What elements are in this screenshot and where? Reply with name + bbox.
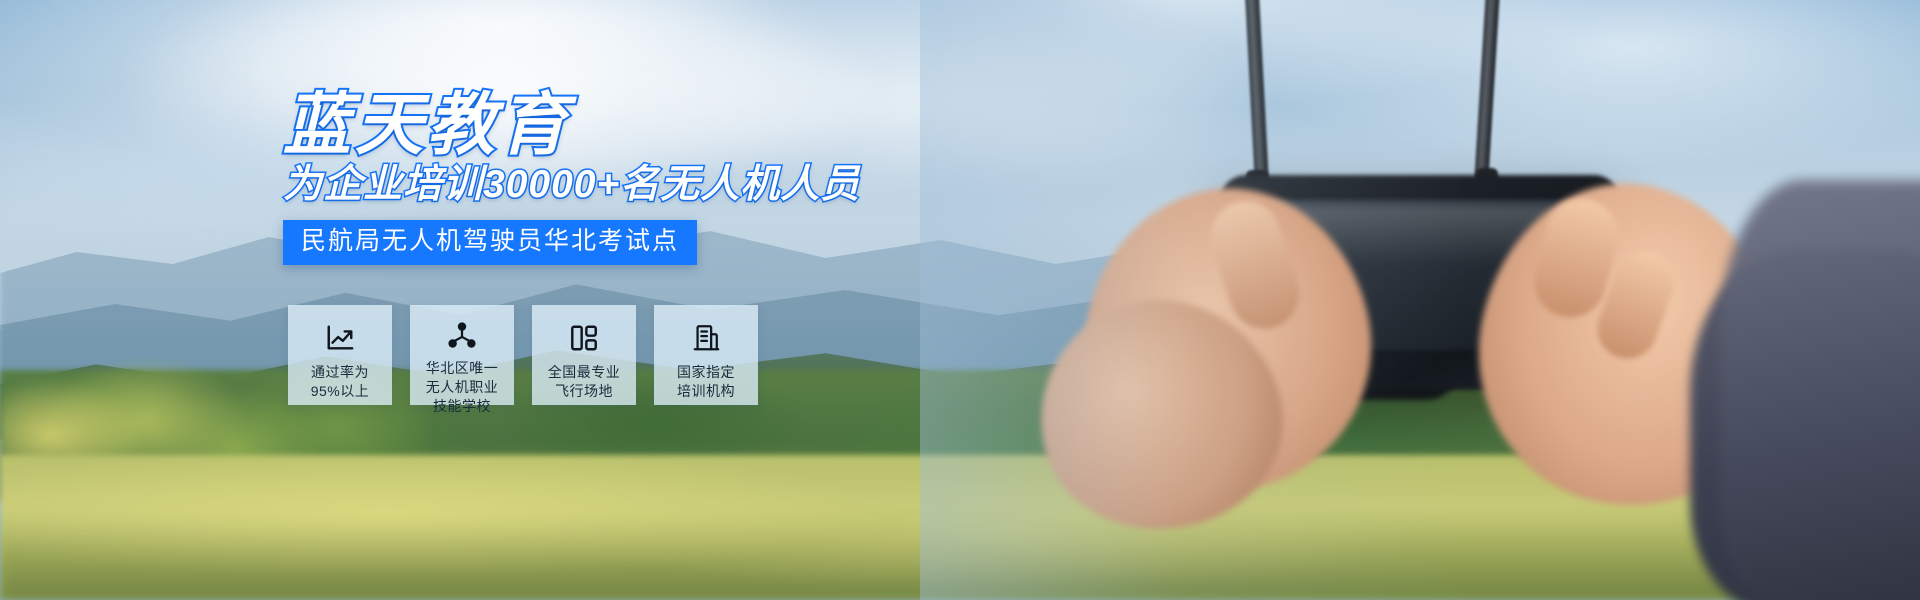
feature-card-text: 通过率为 95%以上 <box>311 363 370 401</box>
exam-site-badge: 民航局无人机驾驶员华北考试点 <box>283 220 697 265</box>
feature-card-vocational-school[interactable]: 华北区唯一 无人机职业 技能学校 <box>410 305 514 405</box>
feature-card-text: 全国最专业 飞行场地 <box>548 363 621 401</box>
chart-trend-up-icon <box>325 321 355 355</box>
feature-card-flight-field[interactable]: 全国最专业 飞行场地 <box>532 305 636 405</box>
banner-subtitle: 为企业培训30000+名无人机人员 <box>283 162 860 208</box>
layout-grid-icon <box>569 321 599 355</box>
building-icon <box>691 321 721 355</box>
feature-card-text: 国家指定 培训机构 <box>677 363 735 401</box>
network-nodes-icon <box>447 321 477 351</box>
banner-title: 蓝天教育 <box>283 88 571 162</box>
hero-banner: 蓝天教育 为企业培训30000+名无人机人员 民航局无人机驾驶员华北考试点 通过… <box>0 0 1920 600</box>
feature-card-text: 华北区唯一 无人机职业 技能学校 <box>426 359 499 416</box>
feature-card-state-designated[interactable]: 国家指定 培训机构 <box>654 305 758 405</box>
feature-card-list: 通过率为 95%以上 华北区唯一 无人机职业 技能学校 <box>288 305 758 405</box>
feature-card-pass-rate[interactable]: 通过率为 95%以上 <box>288 305 392 405</box>
banner-content: 蓝天教育 为企业培训30000+名无人机人员 民航局无人机驾驶员华北考试点 通过… <box>0 0 1920 600</box>
